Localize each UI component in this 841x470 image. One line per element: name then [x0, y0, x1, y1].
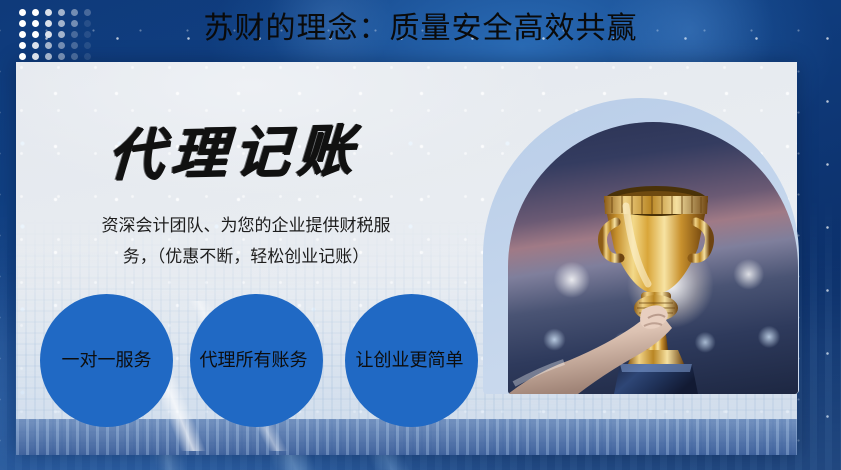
trophy-photo	[508, 122, 798, 394]
subtitle-line-1: 资深会计团队、为您的企业提供财税服	[60, 210, 432, 241]
page-title: 代理记账	[106, 105, 362, 191]
trophy-icon	[508, 122, 798, 394]
subtitle-line-2: 务，（优惠不断，轻松创业记账）	[60, 241, 432, 272]
feature-label-3: 让创业更简单	[322, 348, 497, 372]
feature-label-2: 代理所有账务	[166, 348, 341, 372]
subtitle-paragraph: 资深会计团队、为您的企业提供财税服 务，（优惠不断，轻松创业记账）	[60, 210, 432, 272]
slide-headline: 苏财的理念：质量安全高效共赢	[0, 6, 841, 52]
slide-root: 苏财的理念：质量安全高效共赢	[0, 0, 841, 470]
